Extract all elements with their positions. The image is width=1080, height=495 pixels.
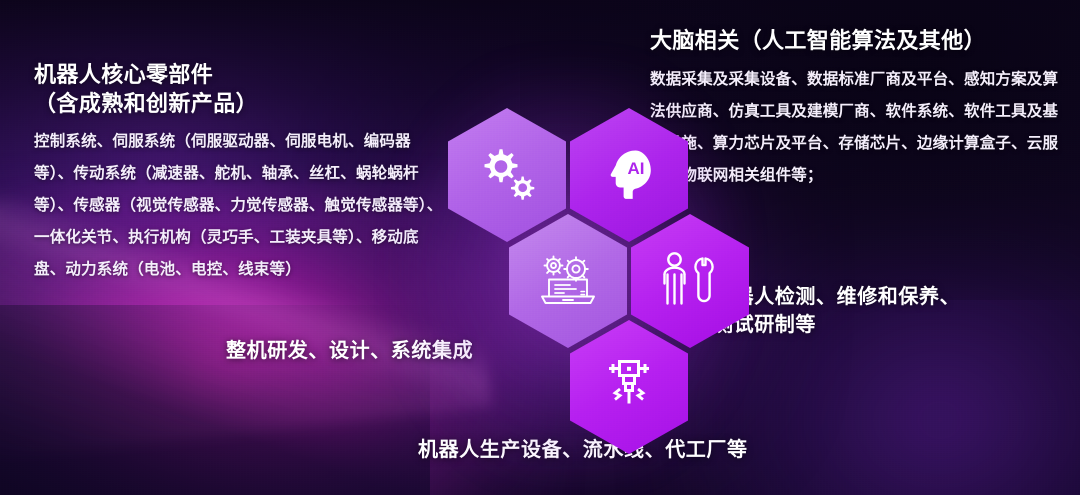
laptop-gears-icon: [536, 252, 600, 310]
left-heading-line1: 机器人核心零部件: [34, 60, 454, 89]
left-body-text: 控制系统、伺服系统（伺服驱动器、伺服电机、编码器等）、传动系统（减速器、舵机、轴…: [34, 126, 450, 286]
left-heading: 机器人核心零部件 （含成熟和创新产品）: [34, 60, 454, 118]
ai-head-icon: AI: [598, 144, 660, 206]
hexagon-system-integration[interactable]: [509, 214, 627, 348]
right-text-block: 大脑相关（人工智能算法及其他） 数据采集及采集设备、数据标准厂商及平台、感知方案…: [650, 26, 1070, 192]
hexagon-ai-brain[interactable]: AI: [570, 108, 688, 242]
label-maintenance: 机器人检测、维修和保养、 测试研制等: [713, 283, 1033, 340]
hexagon-core-components[interactable]: [448, 108, 566, 242]
label-maintenance-line1: 机器人检测、维修和保养、: [713, 283, 1033, 311]
left-heading-line2: （含成熟和创新产品）: [34, 89, 454, 118]
infographic-canvas: 机器人核心零部件 （含成熟和创新产品） 控制系统、伺服系统（伺服驱动器、伺服电机…: [0, 0, 1080, 495]
left-text-block: 机器人核心零部件 （含成熟和创新产品） 控制系统、伺服系统（伺服驱动器、伺服电机…: [34, 60, 454, 286]
robot-tool-icon: [600, 356, 658, 418]
right-heading: 大脑相关（人工智能算法及其他）: [650, 26, 1070, 55]
hexagon-cluster: AI: [448, 108, 688, 408]
gears-icon: [474, 145, 540, 205]
worker-wrench-icon: [660, 250, 720, 312]
label-maintenance-line2: 测试研制等: [713, 311, 1033, 339]
svg-text:AI: AI: [628, 159, 645, 178]
right-body-text: 数据采集及采集设备、数据标准厂商及平台、感知方案及算法供应商、仿真工具及建模厂商…: [650, 64, 1066, 192]
